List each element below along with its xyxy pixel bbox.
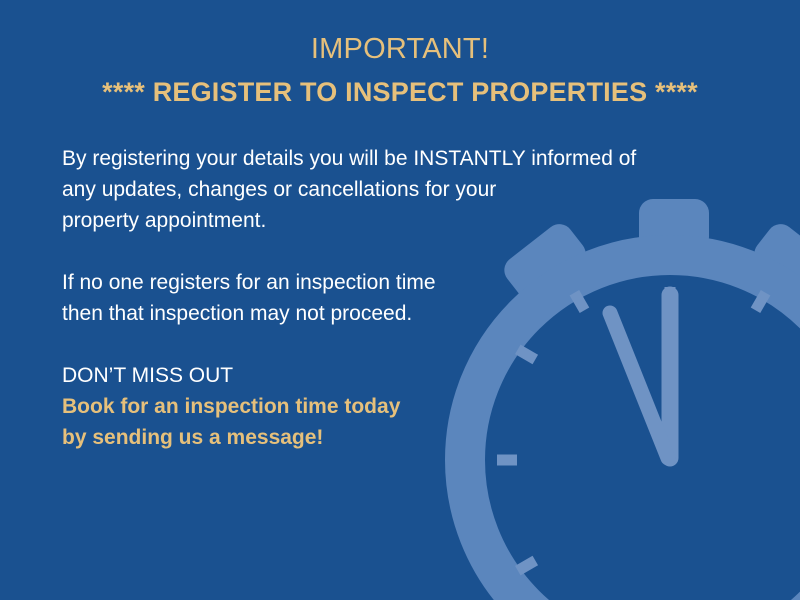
cta-line-3: by sending us a message!: [62, 422, 722, 453]
cta-line-2: Book for an inspection time today: [62, 391, 722, 422]
call-to-action: DON’T MISS OUT Book for an inspection ti…: [62, 360, 722, 453]
paragraph-registering-line-1: By registering your details you will be …: [62, 143, 722, 174]
slide-canvas: IMPORTANT! **** REGISTER TO INSPECT PROP…: [0, 0, 800, 600]
paragraph-no-registration-line-1: If no one registers for an inspection ti…: [62, 267, 722, 298]
cta-line-1: DON’T MISS OUT: [62, 360, 722, 391]
clock-right-button-icon: [749, 218, 800, 305]
cta-dont-miss-out: DON’T MISS OUT: [62, 360, 722, 391]
body-copy: By registering your details you will be …: [62, 143, 722, 453]
paragraph-registering: By registering your details you will be …: [62, 143, 722, 236]
paragraph-no-registration-line-2: then that inspection may not proceed.: [62, 298, 722, 329]
paragraph-registering-line-2: any updates, changes or cancellations fo…: [62, 174, 722, 205]
paragraph-no-registration: If no one registers for an inspection ti…: [62, 267, 722, 329]
heading-block: IMPORTANT! **** REGISTER TO INSPECT PROP…: [0, 30, 800, 111]
paragraph-registering-line-3: property appointment.: [62, 205, 722, 236]
heading-important: IMPORTANT!: [0, 30, 800, 68]
cta-book-message: Book for an inspection time today by sen…: [62, 391, 722, 453]
heading-register: **** REGISTER TO INSPECT PROPERTIES ****: [0, 73, 800, 111]
